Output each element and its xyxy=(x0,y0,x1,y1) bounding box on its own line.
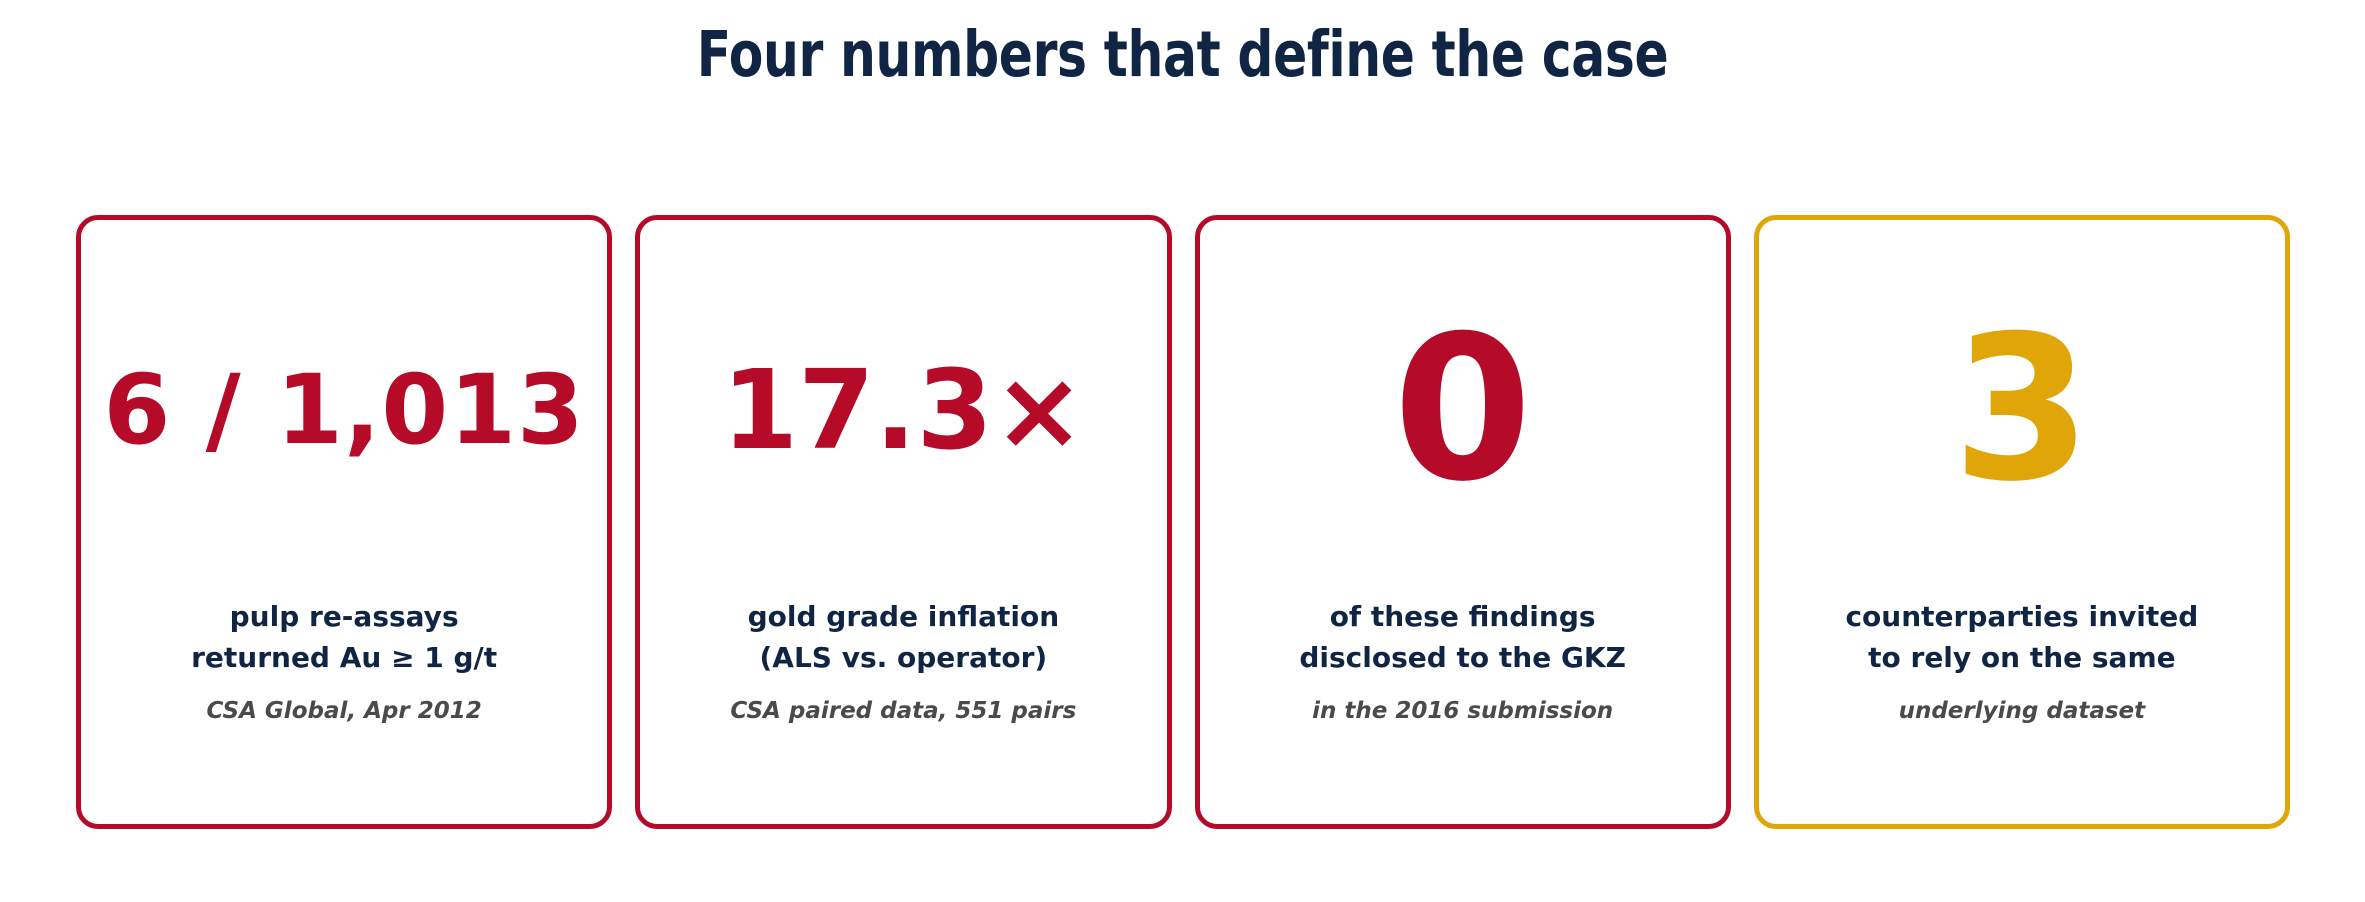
stat-card-row: 6 / 1,013 pulp re-assays returned Au ≥ 1… xyxy=(76,215,2290,829)
stat-caption-line: counterparties invited xyxy=(1769,596,2275,637)
stat-number: 17.3× xyxy=(640,220,1166,600)
stat-caption-line: gold grade inflation xyxy=(650,596,1156,637)
stat-number: 6 / 1,013 xyxy=(81,220,607,600)
stat-caption-line: disclosed to the GKZ xyxy=(1210,637,1716,678)
page-title: Four numbers that define the case xyxy=(237,18,2129,91)
stat-number: 0 xyxy=(1200,220,1726,600)
stat-caption: gold grade inflation (ALS vs. operator) xyxy=(650,596,1156,679)
stat-caption: of these findings disclosed to the GKZ xyxy=(1210,596,1716,679)
stat-source: CSA Global, Apr 2012 xyxy=(89,698,599,724)
stat-card-grade-inflation: 17.3× gold grade inflation (ALS vs. oper… xyxy=(635,215,1171,829)
stat-card-counterparties: 3 counterparties invited to rely on the … xyxy=(1754,215,2290,829)
stat-caption: pulp re-assays returned Au ≥ 1 g/t xyxy=(91,596,597,679)
stat-caption-line: (ALS vs. operator) xyxy=(650,637,1156,678)
infographic-page: Four numbers that define the case 6 / 1,… xyxy=(0,0,2365,902)
stat-caption-line: returned Au ≥ 1 g/t xyxy=(91,637,597,678)
stat-caption-line: to rely on the same xyxy=(1769,637,2275,678)
stat-source: underlying dataset xyxy=(1767,698,2277,724)
stat-caption-line: of these findings xyxy=(1210,596,1716,637)
stat-card-pulp-reassays: 6 / 1,013 pulp re-assays returned Au ≥ 1… xyxy=(76,215,612,829)
stat-caption-line: pulp re-assays xyxy=(91,596,597,637)
stat-caption: counterparties invited to rely on the sa… xyxy=(1769,596,2275,679)
stat-source: in the 2016 submission xyxy=(1208,698,1718,724)
stat-number: 3 xyxy=(1759,220,2285,600)
stat-source: CSA paired data, 551 pairs xyxy=(648,698,1158,724)
stat-card-disclosure: 0 of these findings disclosed to the GKZ… xyxy=(1195,215,1731,829)
